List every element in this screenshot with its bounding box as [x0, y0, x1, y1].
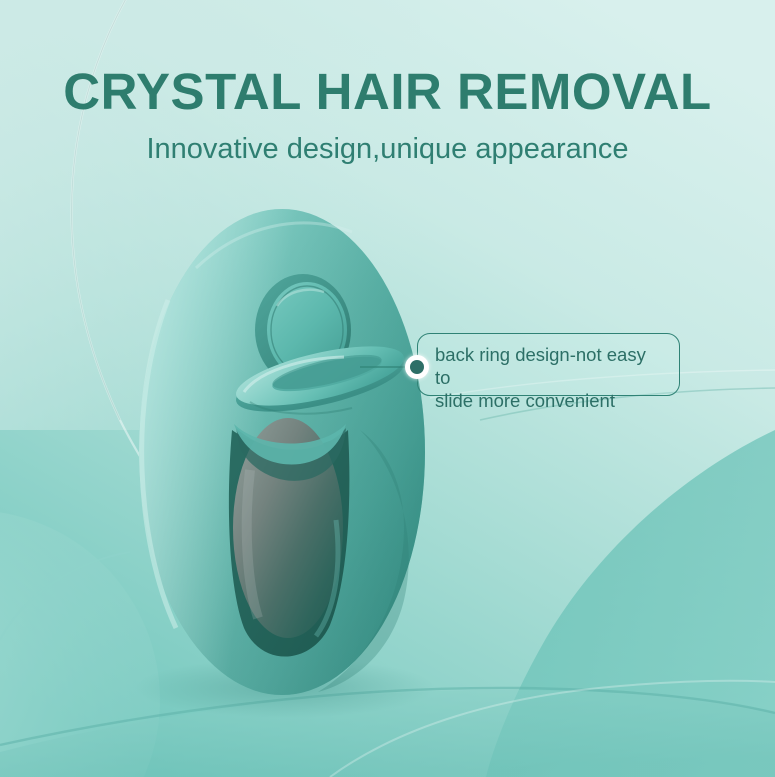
product-device	[139, 209, 425, 695]
feature-callout: back ring design-not easy to slide more …	[417, 333, 680, 396]
feature-callout-text: back ring design-not easy to slide more …	[435, 343, 665, 412]
product-banner: CRYSTAL HAIR REMOVAL Innovative design,u…	[0, 0, 775, 777]
page-subtitle: Innovative design,unique appearance	[0, 133, 775, 166]
page-title: CRYSTAL HAIR REMOVAL	[0, 62, 775, 121]
callout-anchor-dot-icon	[405, 355, 429, 379]
